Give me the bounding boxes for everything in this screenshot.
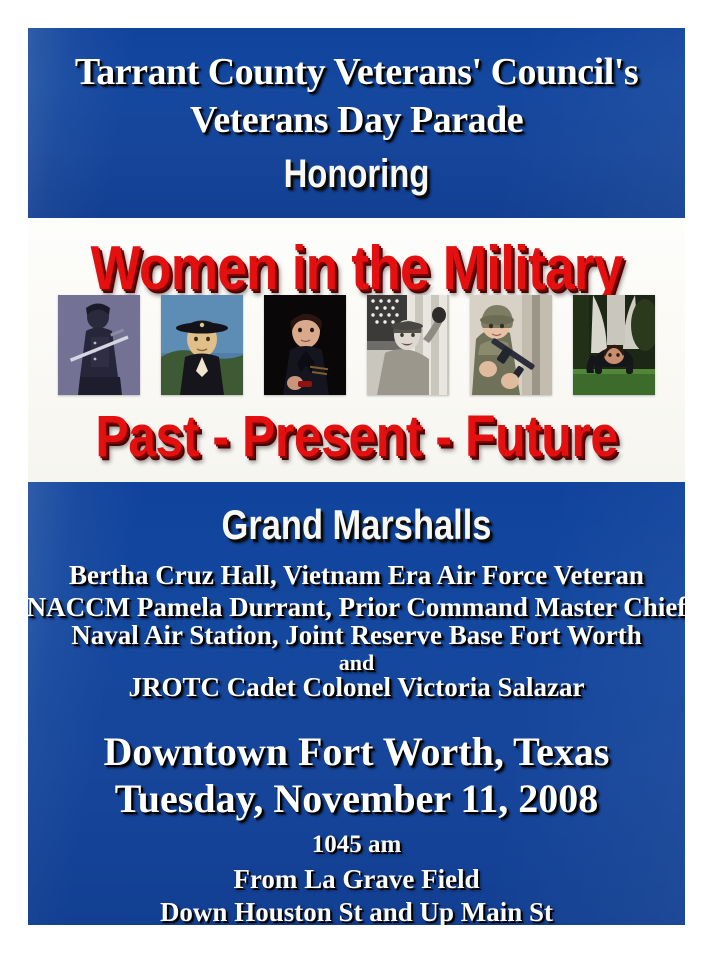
photo-cadet-doing-push-ups <box>573 295 655 395</box>
photo-strip <box>28 295 685 400</box>
headline-women-in-the-military: Women in the Military <box>74 233 639 304</box>
grand-marshall-2: NACCM Pamela Durrant, Prior Command Mast… <box>28 592 685 623</box>
grand-marshalls-heading: Grand Marshalls <box>87 501 626 549</box>
event-start-point: From La Grave Field <box>28 864 685 895</box>
photo-wwii-navy-officer-portrait <box>264 295 346 395</box>
poster-title-line-1: Tarrant County Veterans' Council's <box>28 50 685 94</box>
photo-civil-war-soldier-with-rifle <box>58 295 140 395</box>
poster-title-line-2: Veterans Day Parade <box>28 98 685 142</box>
event-location: Downtown Fort Worth, Texas <box>28 728 685 775</box>
parade-poster: Tarrant County Veterans' Council's Veter… <box>28 28 685 925</box>
honoring-label: Honoring <box>87 152 626 197</box>
photo-wwii-servicewoman-saluting-with-flag <box>367 295 449 395</box>
headline-past-present-future: Past - Present - Future <box>74 403 639 470</box>
grand-marshall-2-unit: Naval Air Station, Joint Reserve Base Fo… <box>28 620 685 651</box>
grand-marshall-1: Bertha Cruz Hall, Vietnam Era Air Force … <box>28 560 685 591</box>
event-route: Down Houston St and Up Main St <box>28 897 685 925</box>
event-date: Tuesday, November 11, 2008 <box>28 775 685 822</box>
photo-portrait-woman-in-black-hat <box>161 295 243 395</box>
grand-marshall-3: JROTC Cadet Colonel Victoria Salazar <box>28 672 685 703</box>
event-time: 1045 am <box>28 831 685 859</box>
photo-modern-soldier-in-helmet-with-rifle <box>470 295 552 395</box>
